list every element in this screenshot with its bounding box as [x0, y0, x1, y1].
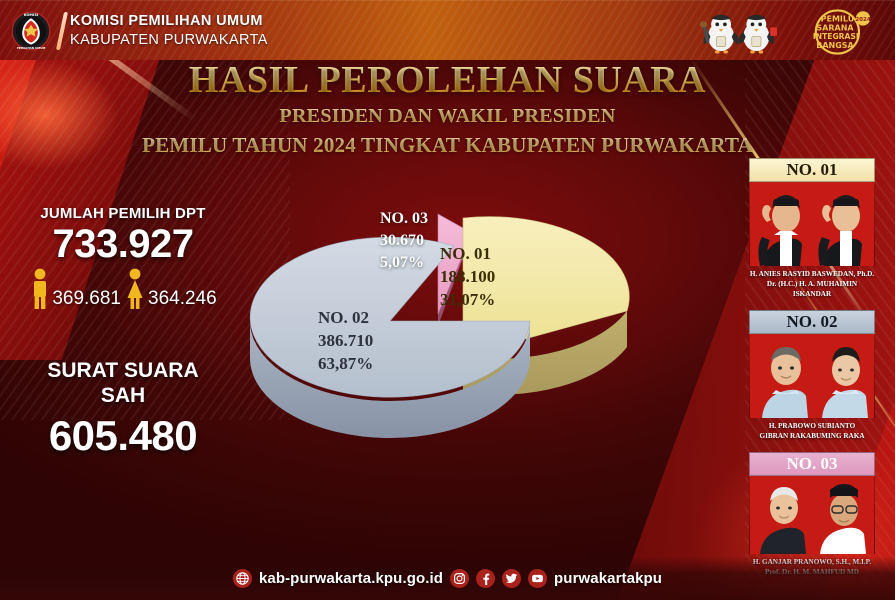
male-voters-count: 369.681: [52, 288, 121, 310]
page-title: HASIL PEROLEHAN SUARA: [0, 58, 895, 102]
candidate-02-name-line2: GIBRAN RAKABUMING RAKA: [749, 431, 875, 441]
pie-label-no-02-value: 386.710: [318, 329, 373, 352]
kpu-logo-icon: KOMISI PEMILIHAN UMUM: [8, 11, 54, 51]
pie-label-no-02-name: NO. 02: [318, 306, 373, 329]
svg-text:2024: 2024: [855, 17, 871, 23]
candidate-01-name-line1: H. ANIES RASYID BASWEDAN, Ph.D.: [749, 269, 875, 279]
title-block: HASIL PEROLEHAN SUARA PRESIDEN DAN WAKIL…: [0, 58, 895, 160]
footer-website[interactable]: kab-purwakarta.kpu.go.id: [259, 570, 443, 587]
female-voters: 364.246: [123, 268, 217, 310]
candidate-02-name-line1: H. PRABOWO SUBIANTO: [749, 421, 875, 431]
pemilu-mascot-icon: [695, 9, 787, 55]
facebook-icon[interactable]: [476, 569, 495, 588]
vote-share-pie-chart: NO. 01 188.100 31,07% NO. 02 386.710 63,…: [232, 196, 652, 466]
header-org-line1: KOMISI PEMILIHAN UMUM: [70, 12, 268, 31]
page-header: KOMISI PEMILIHAN UMUM KOMISI PEMILIHAN U…: [0, 0, 895, 60]
svg-text:KOMISI: KOMISI: [24, 13, 39, 17]
candidate-pair-photo-03: [749, 476, 875, 554]
candidate-card-01-names: H. ANIES RASYID BASWEDAN, Ph.D. Dr. (H.C…: [749, 269, 875, 299]
pie-label-no-02: NO. 02 386.710 63,87%: [318, 306, 373, 375]
valid-ballots-label-line2: SAH: [18, 383, 228, 408]
voter-statistics-panel: JUMLAH PEMILIH DPT 733.927 369.681: [18, 205, 228, 460]
gender-breakdown: 369.681 364.246: [18, 268, 228, 310]
page-subtitle-2: PEMILU TAHUN 2024 TINGKAT KABUPATEN PURW…: [0, 130, 895, 160]
pie-label-no-03: NO. 03 30.670 5,07%: [380, 208, 428, 274]
candidate-01-name-line2: Dr. (H.C.) H. A. MUHAIMIN ISKANDAR: [749, 279, 875, 299]
header-org-text: KOMISI PEMILIHAN UMUM KABUPATEN PURWAKAR…: [70, 12, 268, 50]
valid-ballots-label-line1: SURAT SUARA: [18, 358, 228, 383]
pie-label-no-03-value: 30.670: [380, 230, 428, 252]
male-voters: 369.681: [29, 268, 121, 310]
pemilu-slogan-badge: 2024 PEMILU SARANA INTEGRASI BANGSA: [795, 8, 883, 56]
candidate-pair-photo-02: [749, 334, 875, 418]
female-person-icon: [123, 268, 147, 310]
candidate-card-02-number: NO. 02: [749, 310, 875, 334]
instagram-icon[interactable]: [450, 569, 469, 588]
pie-label-no-03-percent: 5,07%: [380, 252, 428, 274]
page-subtitle: PRESIDEN DAN WAKIL PRESIDEN: [0, 102, 895, 130]
footer-bar: kab-purwakarta.kpu.go.id purwaka: [0, 556, 895, 600]
candidate-card-03-number: NO. 03: [749, 452, 875, 476]
pie-label-no-03-name: NO. 03: [380, 208, 428, 230]
infographic-canvas: KOMISI PEMILIHAN UMUM KOMISI PEMILIHAN U…: [0, 0, 895, 600]
pie-label-no-01-value: 188.100: [440, 265, 495, 288]
twitter-icon[interactable]: [502, 569, 521, 588]
pie-label-no-01: NO. 01 188.100 31,07%: [440, 242, 495, 311]
svg-text:BANGSA: BANGSA: [816, 41, 854, 50]
globe-icon[interactable]: [233, 569, 252, 588]
candidate-card-02[interactable]: NO. 02: [749, 310, 875, 441]
pie-label-no-01-percent: 31,07%: [440, 288, 495, 311]
svg-text:SARANA: SARANA: [816, 23, 854, 32]
pie-label-no-01-name: NO. 01: [440, 242, 495, 265]
male-person-icon: [29, 268, 51, 310]
header-org-line2: KABUPATEN PURWAKARTA: [70, 31, 268, 50]
dpt-label: JUMLAH PEMILIH DPT: [18, 205, 228, 222]
valid-ballots-value: 605.480: [18, 412, 228, 460]
dpt-value: 733.927: [18, 222, 228, 266]
candidate-cards: NO. 01: [745, 158, 885, 588]
pie-label-no-02-percent: 63,87%: [318, 352, 373, 375]
svg-text:PEMILIHAN UMUM: PEMILIHAN UMUM: [17, 46, 46, 50]
footer-social-handle[interactable]: purwakartakpu: [554, 570, 662, 587]
youtube-icon[interactable]: [528, 569, 547, 588]
candidate-card-02-names: H. PRABOWO SUBIANTO GIBRAN RAKABUMING RA…: [749, 421, 875, 441]
svg-text:INTEGRASI: INTEGRASI: [813, 32, 859, 41]
candidate-card-01-number: NO. 01: [749, 158, 875, 182]
svg-text:PEMILU: PEMILU: [821, 15, 855, 24]
candidate-card-01[interactable]: NO. 01: [749, 158, 875, 299]
candidate-pair-photo-01: [749, 182, 875, 266]
female-voters-count: 364.246: [148, 288, 217, 310]
